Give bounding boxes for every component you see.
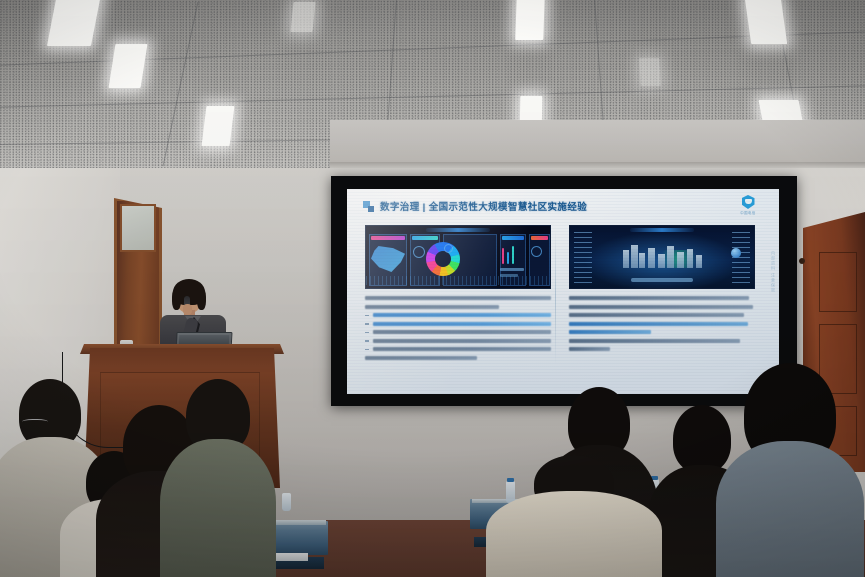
dashboard-gauge-ring — [413, 246, 425, 258]
dashboard-donut-chart — [426, 242, 460, 276]
square-bullet-icon — [363, 201, 375, 212]
building — [687, 249, 694, 268]
dashboard-header-bar — [426, 228, 490, 232]
water-bottle — [282, 493, 291, 511]
building — [696, 255, 702, 268]
city-figure-label — [631, 278, 693, 282]
audience-member — [486, 455, 662, 577]
audience-member — [160, 379, 276, 577]
column-divider — [555, 229, 556, 364]
glasses-icon — [22, 419, 48, 426]
ceiling-light — [202, 106, 235, 146]
3d-city-digital-twin-figure — [569, 225, 755, 289]
dashboard-kpi-bar — [502, 236, 524, 240]
building — [677, 252, 685, 269]
slide-title: 数字治理 | 全国示范性大规模智慧社区实施经验 — [380, 199, 587, 213]
city-right-data-column — [732, 232, 750, 284]
slide-logo-caption: 中国电信 — [731, 210, 765, 215]
dashboard-sparkline-strip — [366, 276, 550, 285]
soffit-edge — [330, 162, 865, 168]
dashboard-kpi-bar — [371, 236, 405, 240]
ceiling-soffit — [330, 120, 865, 166]
slide-right-body — [569, 296, 755, 351]
ceiling-light — [745, 0, 787, 44]
city-buildings — [622, 242, 707, 277]
slide-left-column — [365, 225, 551, 364]
building — [631, 245, 638, 268]
city-left-data-column — [574, 232, 592, 284]
door-left-transom-glass — [120, 204, 156, 252]
dashboard-kpi-bar — [531, 236, 548, 240]
building — [623, 250, 629, 268]
presenter-hair-left — [172, 288, 181, 310]
building — [658, 254, 665, 269]
slide-left-body — [365, 296, 551, 360]
dashboard-column — [502, 248, 504, 264]
dashboard-column — [512, 246, 514, 264]
dashboard-bar — [500, 268, 524, 271]
slide-header: 数字治理 | 全国示范性大规模智慧社区实施经验 — [363, 199, 587, 213]
room: 数字治理 | 全国示范性大规模智慧社区实施经验 中国电信 内部资料 注意保密 — [0, 0, 865, 577]
smart-community-dashboard-figure — [365, 225, 551, 289]
slide-side-watermark: 内部资料 注意保密 — [770, 251, 776, 293]
slide-right-column — [569, 225, 755, 356]
building — [648, 248, 656, 269]
ceiling-light — [515, 0, 545, 40]
dashboard-kpi-bar — [412, 236, 438, 240]
slide-logo: 中国电信 — [731, 195, 765, 215]
presenter-hand — [183, 304, 192, 315]
dashboard-column — [507, 252, 509, 264]
door-panel — [819, 252, 857, 312]
building — [667, 246, 674, 268]
figure-header-bar — [630, 228, 694, 232]
shield-badge-logo-icon — [742, 195, 755, 209]
ceiling-light — [290, 2, 315, 32]
ceiling-light — [639, 58, 660, 86]
slide-content: 数字治理 | 全国示范性大规模智慧社区实施经验 中国电信 内部资料 注意保密 — [347, 189, 779, 394]
building — [639, 253, 645, 269]
audience-shoulders — [486, 491, 662, 577]
dashboard-gauge-ring — [444, 244, 453, 253]
audience-member — [716, 363, 864, 577]
dashboard-gauge-ring — [531, 246, 542, 257]
city-globe-widget — [731, 248, 741, 258]
presenter-hair-right — [197, 288, 206, 310]
door-knob[interactable] — [799, 258, 805, 264]
lecture-hall-photo: 数字治理 | 全国示范性大规模智慧社区实施经验 中国电信 内部资料 注意保密 — [0, 0, 865, 577]
audience-shoulders — [160, 439, 276, 577]
audience-shoulders — [716, 441, 864, 577]
